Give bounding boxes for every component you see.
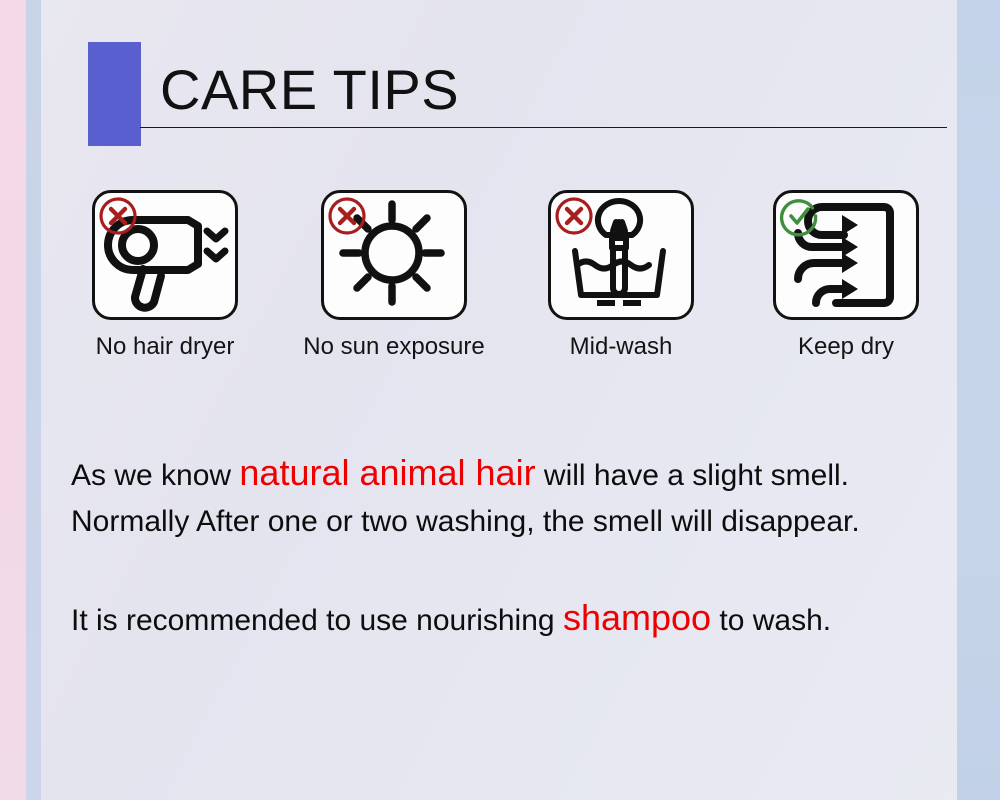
red-cross-badge [324,193,370,239]
care-item-mid-wash: Mid-wash [546,190,696,361]
title-underline-rule [140,127,947,128]
care-item-no-hair-dryer: No hair dryer [90,190,240,361]
red-cross-badge [95,193,141,239]
paragraph-shampoo: It is recommended to use nourishing sham… [71,595,951,644]
care-item-no-sun-exposure: No sun exposure [319,190,469,361]
content-area: CARE TIPS [41,0,957,800]
paragraph1-before: As we know [71,459,239,492]
icon-card [773,190,919,320]
paragraph2-after: to wash. [711,604,831,637]
header: CARE TIPS [88,42,941,148]
icon-card [548,190,694,320]
title-accent-bar [88,42,141,146]
care-item-keep-dry: Keep dry [771,190,921,361]
paragraph-smell: As we know natural animal hair will have… [71,450,951,545]
care-item-label: No sun exposure [303,333,484,361]
care-item-label: Keep dry [798,333,894,361]
paragraph2-highlight: shampoo [563,597,711,638]
care-item-label: No hair dryer [96,333,235,361]
left-pink-stripe [0,0,26,800]
icon-card [321,190,467,320]
red-cross-badge [551,193,597,239]
paragraph2-before: It is recommended to use nourishing [71,604,563,637]
care-icon-row: No hair dryer [90,190,956,365]
care-item-label: Mid-wash [570,333,673,361]
paragraph1-highlight: natural animal hair [239,452,535,493]
green-check-badge [776,193,822,239]
page-background: CARE TIPS [0,0,1000,800]
body-text-block: As we know natural animal hair will have… [71,450,951,644]
icon-card [92,190,238,320]
right-blue-stripe [957,0,1000,800]
left-blue-stripe [26,0,41,800]
